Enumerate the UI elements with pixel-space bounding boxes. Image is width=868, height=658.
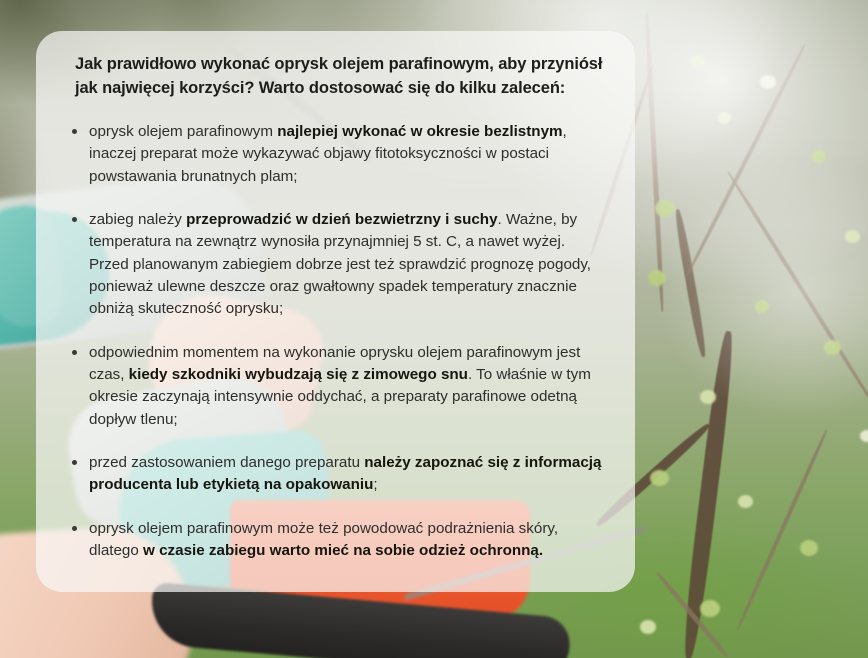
recommendation-item: oprysk olejem parafinowym może też powod… — [62, 518, 607, 563]
body-text: przed zastosowaniem danego preparatu — [89, 454, 364, 471]
body-text: oprysk olejem parafinowym — [89, 123, 277, 140]
emphasis-text: w czasie zabiegu warto mieć na sobie odz… — [143, 542, 543, 559]
card-heading: Jak prawidłowo wykonać oprysk olejem par… — [62, 49, 607, 101]
body-text: zabieg należy — [89, 211, 186, 228]
recommendation-item: przed zastosowaniem danego preparatu nal… — [62, 452, 607, 497]
infographic-root: Jak prawidłowo wykonać oprysk olejem par… — [0, 0, 868, 658]
emphasis-text: najlepiej wykonać w okresie bezlistnym — [277, 123, 562, 140]
card-heading-line-2: jak najwięcej korzyści? Warto dostosować… — [75, 77, 605, 101]
recommendation-item: odpowiednim momentem na wykonanie oprysk… — [62, 342, 607, 431]
body-text: ; — [373, 476, 377, 493]
recommendation-item: oprysk olejem parafinowym najlepiej wyko… — [62, 121, 607, 188]
recommendation-item: zabieg należy przeprowadzić w dzień bezw… — [62, 209, 607, 321]
emphasis-text: kiedy szkodniki wybudzają się z zimowego… — [129, 366, 468, 383]
recommendations-list: oprysk olejem parafinowym najlepiej wyko… — [62, 121, 607, 563]
card-heading-line-1: Jak prawidłowo wykonać oprysk olejem par… — [75, 53, 605, 77]
content-card: Jak prawidłowo wykonać oprysk olejem par… — [36, 31, 635, 592]
emphasis-text: przeprowadzić w dzień bezwietrzny i such… — [186, 211, 497, 228]
